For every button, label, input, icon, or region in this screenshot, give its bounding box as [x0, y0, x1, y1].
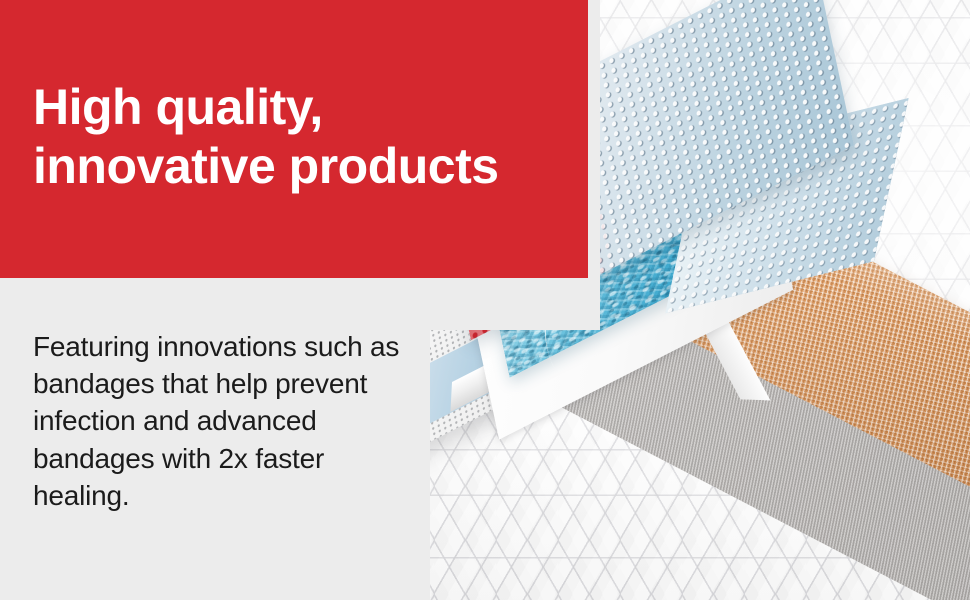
headline-text: High quality, innovative products — [33, 78, 573, 195]
promotional-banner: High quality, innovative products Featur… — [0, 0, 970, 600]
body-copy-text: Featuring innovations such as bandages t… — [33, 328, 433, 514]
red-headline-block: High quality, innovative products — [0, 0, 588, 278]
